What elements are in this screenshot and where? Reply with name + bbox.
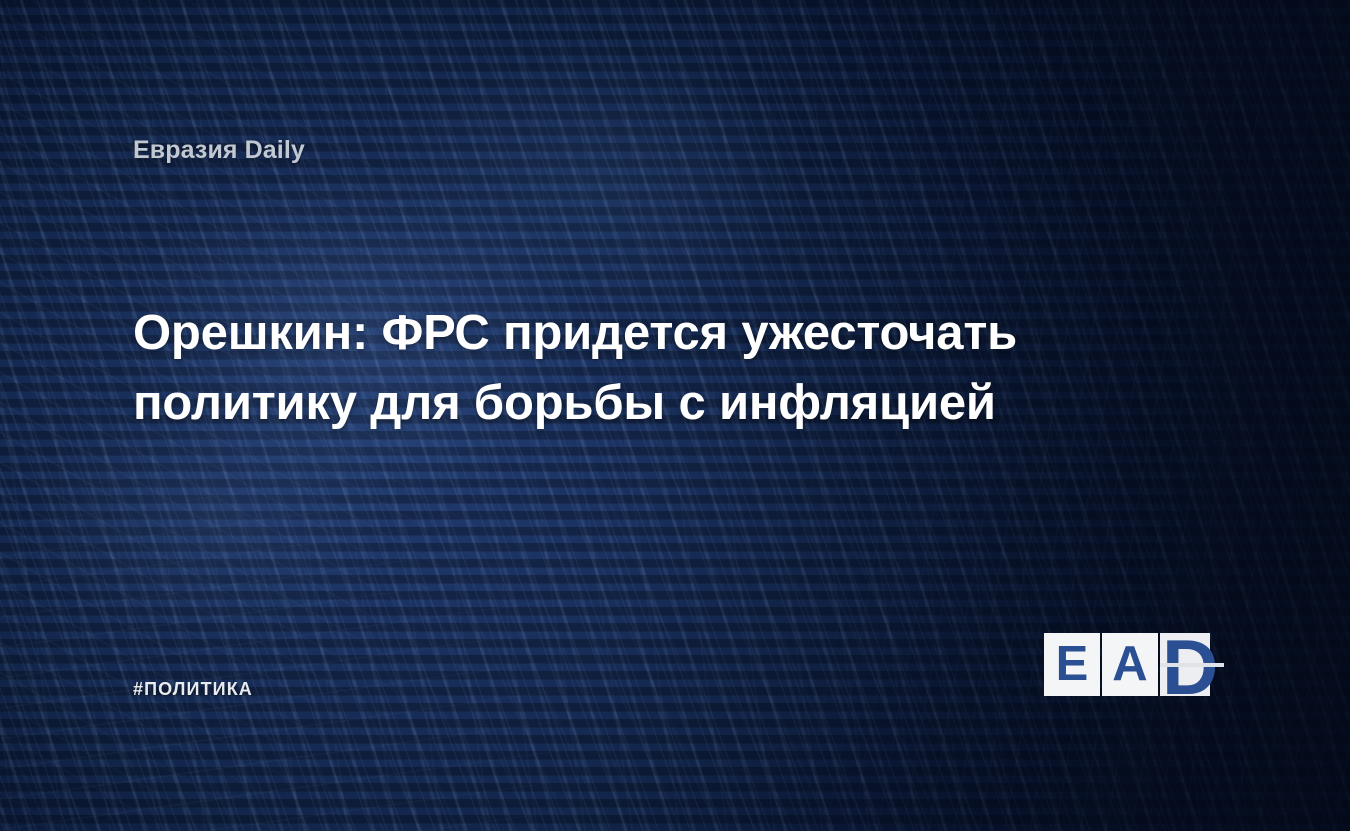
logo-letter-e: E: [1056, 640, 1089, 689]
logo-letter-a: A: [1112, 640, 1147, 689]
card-content: Евразия Daily Орешкин: ФРС придется ужес…: [0, 0, 1350, 831]
headline-title: Орешкин: ФРС придется ужесточать политик…: [133, 298, 1143, 439]
category-hashtag[interactable]: #ПОЛИТИКА: [133, 679, 253, 700]
news-share-card: Евразия Daily Орешкин: ФРС придется ужес…: [0, 0, 1350, 831]
logo-tile-d-overflow: [1210, 627, 1230, 703]
ead-logo[interactable]: E A D: [1044, 633, 1210, 696]
logo-tile-a: A: [1102, 633, 1158, 696]
logo-tile-e: E: [1044, 633, 1100, 696]
logo-tile-d: D: [1160, 633, 1210, 696]
brand-name: Евразия Daily: [133, 136, 305, 165]
